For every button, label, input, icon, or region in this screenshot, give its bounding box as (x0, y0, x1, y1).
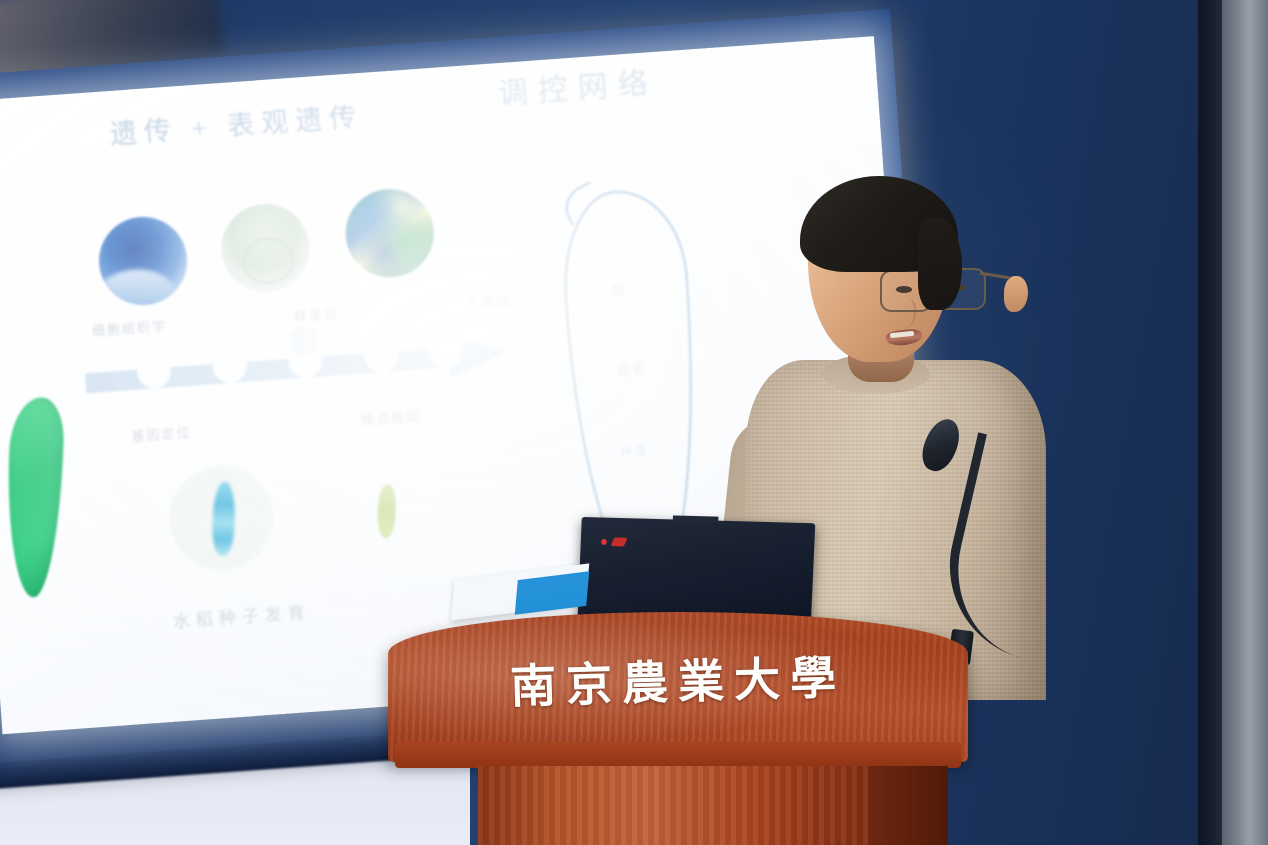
speaker-ear (1004, 276, 1028, 312)
slide-title: 遗传 + 表观遗传 (108, 95, 364, 152)
fluorescence-karyotype-circle (343, 186, 437, 280)
caption-transcriptome: 转录组 (293, 303, 339, 325)
lectern-lip (395, 742, 961, 768)
caption-epigenome: 表观组 (465, 291, 511, 313)
slide-title-decoration: 调控网络 (496, 58, 659, 113)
slide-footer: 水稻种子发育 (172, 598, 311, 633)
small-green-leaf (378, 484, 396, 538)
grain-label-seedcoat: 种皮 (619, 441, 650, 460)
process-arrow (84, 335, 515, 400)
grain-label-endosperm: 胚乳 (617, 359, 648, 378)
caption-cytology: 细胞组织学 (91, 315, 167, 339)
pale-green-micrograph-circle (218, 201, 312, 295)
laptop-logo-mark-icon (611, 537, 628, 546)
lectern-base-shadow (868, 766, 948, 845)
blue-micrograph-circle (96, 214, 190, 308)
green-leaf-shape (4, 396, 65, 598)
process-captions-bottom: 基因定位 候选基因 (131, 406, 422, 446)
laptop-logo-dot-icon (601, 539, 607, 545)
presentation-photo-scene: 遗传 + 表观遗传 调控网络 细胞组织学 转录组 表观组 (0, 0, 1268, 845)
wall-column (1222, 0, 1268, 845)
wall-dark-edge (1198, 0, 1224, 845)
lectern-base (478, 766, 878, 845)
lectern-top: 南京農業大學 (388, 612, 968, 762)
caption-candidate-gene: 候选基因 (360, 406, 421, 429)
lectern-institution-name: 南京農業大學 (388, 638, 968, 720)
laptop-notch (673, 515, 719, 523)
grain-label-embryo: 胚 (612, 280, 628, 298)
caption-gene-mapping: 基因定位 (131, 422, 192, 445)
